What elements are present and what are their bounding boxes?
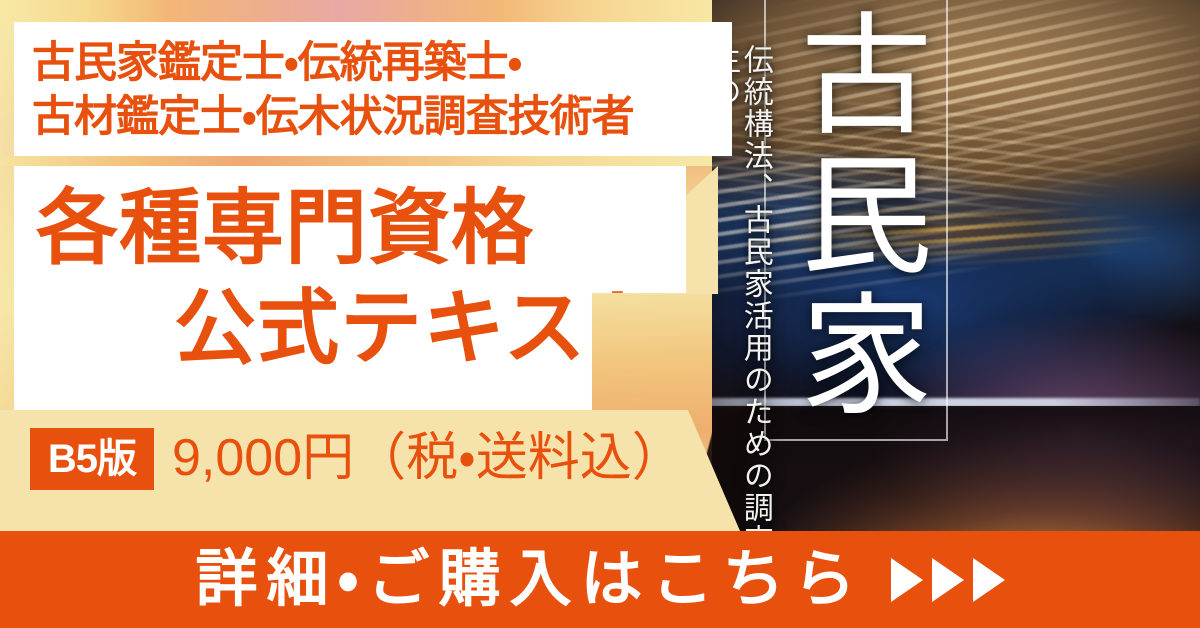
- book-title-vertical: 古民家: [784, 6, 924, 426]
- credentials-card: 古民家鑑定士・伝統再築士・ 古材鑑定士・伝木状況調査技術者: [14, 22, 732, 156]
- cta-inner: 詳細・ご購入はこちら: [195, 549, 1004, 611]
- headline-card: 各種専門資格 公式テキスト: [14, 166, 686, 410]
- size-badge: B5版: [30, 428, 154, 490]
- price-text: 9,000円（税・送料込）: [172, 430, 684, 487]
- size-badge-label: B5版: [48, 439, 136, 479]
- cta-bar[interactable]: 詳細・ご購入はこちら: [0, 531, 1200, 628]
- credentials-line-1: 古民家鑑定士・伝統再築士・: [32, 36, 634, 90]
- cta-label: 詳細・ご購入はこちら: [195, 549, 864, 611]
- credentials-line-2: 古材鑑定士・伝木状況調査技術者: [32, 90, 634, 144]
- card-seam-divider: [0, 156, 712, 166]
- triangle-right-icon: [891, 558, 923, 602]
- triangle-right-icon: [973, 558, 1005, 602]
- cta-arrows: [891, 558, 1005, 602]
- triangle-right-icon: [932, 558, 964, 602]
- promo-banner: 古民家 伝統構法、古民家活用のための調査と再生の 古民家鑑定士・伝統再築士・ 古…: [0, 0, 1200, 628]
- credentials-text: 古民家鑑定士・伝統再築士・ 古材鑑定士・伝木状況調査技術者: [32, 36, 634, 144]
- gold-ribbon-texture: [700, 196, 1200, 270]
- top-gradient-band: [0, 0, 712, 24]
- headline-line-1: 各種専門資格: [36, 188, 534, 270]
